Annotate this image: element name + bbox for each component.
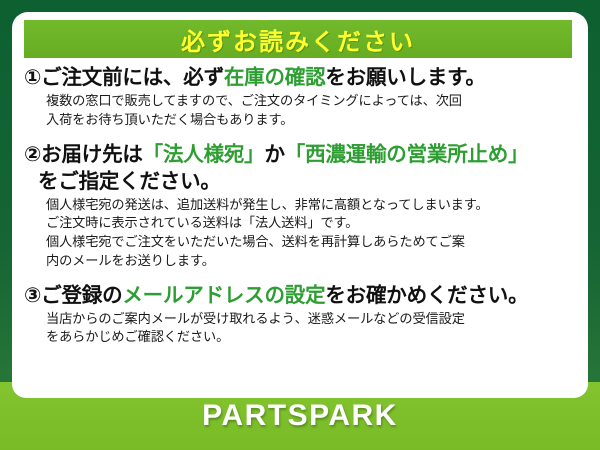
notice-item-1-heading: ①ご注文前には、必ず在庫の確認をお願いします。 — [24, 64, 578, 91]
notice-item-3-heading-part-1: ご登録の — [41, 284, 122, 307]
notice-item-2-heading-part-5: をご指定ください。 — [38, 170, 221, 193]
notice-item-3-body-line-1: 当店からのご案内メールが受け取れるよう、迷惑メールなどの受信設定 — [46, 310, 578, 329]
notice-item-1-heading-part-3: をお願いします。 — [325, 66, 485, 89]
notice-item-3: ③ご登録のメールアドレスの設定をお確かめください。 当店からのご案内メールが受け… — [12, 282, 588, 348]
notice-item-3-heading-emphasis: メールアドレスの設定 — [122, 284, 325, 307]
notice-item-1-body-line-1: 複数の窓口で販売してますので、ご注文のタイミングによっては、次回 — [46, 92, 578, 111]
notice-item-1: ①ご注文前には、必ず在庫の確認をお願いします。 複数の窓口で販売してますので、ご… — [12, 64, 588, 130]
notice-item-2-heading-part-3: か — [264, 143, 284, 166]
notice-item-1-body: 複数の窓口で販売してますので、ご注文のタイミングによっては、次回 入荷をお待ち頂… — [24, 92, 578, 129]
notice-item-2-heading-line-1: ②お届け先は「法人様宛」か「西濃運輸の営業所止め」 — [24, 141, 578, 168]
notice-item-list: ①ご注文前には、必ず在庫の確認をお願いします。 複数の窓口で販売してますので、ご… — [12, 64, 588, 347]
notice-sheet: 必ずお読みください ①ご注文前には、必ず在庫の確認をお願いします。 複数の窓口で… — [12, 12, 588, 398]
notice-item-1-marker: ① — [24, 66, 41, 89]
notice-item-2-body-line-1: 個人様宅宛の発送は、追加送料が発生し、非常に高額となってしまいます。 — [46, 196, 578, 215]
notice-item-1-heading-emphasis: 在庫の確認 — [224, 66, 326, 89]
notice-item-2-body-line-2: ご注文時に表示されている送料は「法人送料」です。 — [46, 214, 578, 233]
notice-item-2-body-line-4: 内のメールをお送りします。 — [46, 252, 578, 271]
notice-item-2-heading-emphasis-1: 「法人様宛」 — [143, 143, 265, 166]
notice-item-3-body: 当店からのご案内メールが受け取れるよう、迷惑メールなどの受信設定 をあらかじめご… — [24, 310, 578, 347]
brand-name: PARTSPARK — [202, 399, 398, 433]
page-title: 必ずお読みください — [181, 22, 415, 57]
notice-item-3-body-line-2: をあらかじめご確認ください。 — [46, 328, 578, 347]
notice-item-2-heading-part-1: お届け先は — [41, 143, 143, 166]
notice-item-3-heading-part-3: をお確かめください。 — [325, 284, 528, 307]
notice-item-3-marker: ③ — [24, 284, 41, 307]
notice-item-1-heading-part-1: ご注文前には、必ず — [41, 66, 224, 89]
notice-card: 必ずお読みください ①ご注文前には、必ず在庫の確認をお願いします。 複数の窓口で… — [0, 0, 600, 450]
title-banner: 必ずお読みください — [24, 20, 572, 58]
notice-item-2-body: 個人様宅宛の発送は、追加送料が発生し、非常に高額となってしまいます。 ご注文時に… — [24, 196, 578, 271]
notice-item-2-heading-line-2: をご指定ください。 — [24, 168, 578, 195]
notice-item-3-heading: ③ご登録のメールアドレスの設定をお確かめください。 — [24, 282, 578, 309]
notice-item-2-body-line-3: 個人様宅宛でご注文をいただいた場合、送料を再計算しあらためてご案 — [46, 233, 578, 252]
notice-item-2-heading-emphasis-2: 「西濃運輸の営業所止め」 — [285, 143, 529, 166]
footer-logo: PARTSPARK — [0, 382, 600, 450]
notice-item-2: ②お届け先は「法人様宛」か「西濃運輸の営業所止め」 をご指定ください。 個人様宅… — [12, 141, 588, 271]
notice-item-2-marker: ② — [24, 143, 41, 166]
notice-item-1-body-line-2: 入荷をお待ち頂いただく場合もあります。 — [46, 111, 578, 130]
